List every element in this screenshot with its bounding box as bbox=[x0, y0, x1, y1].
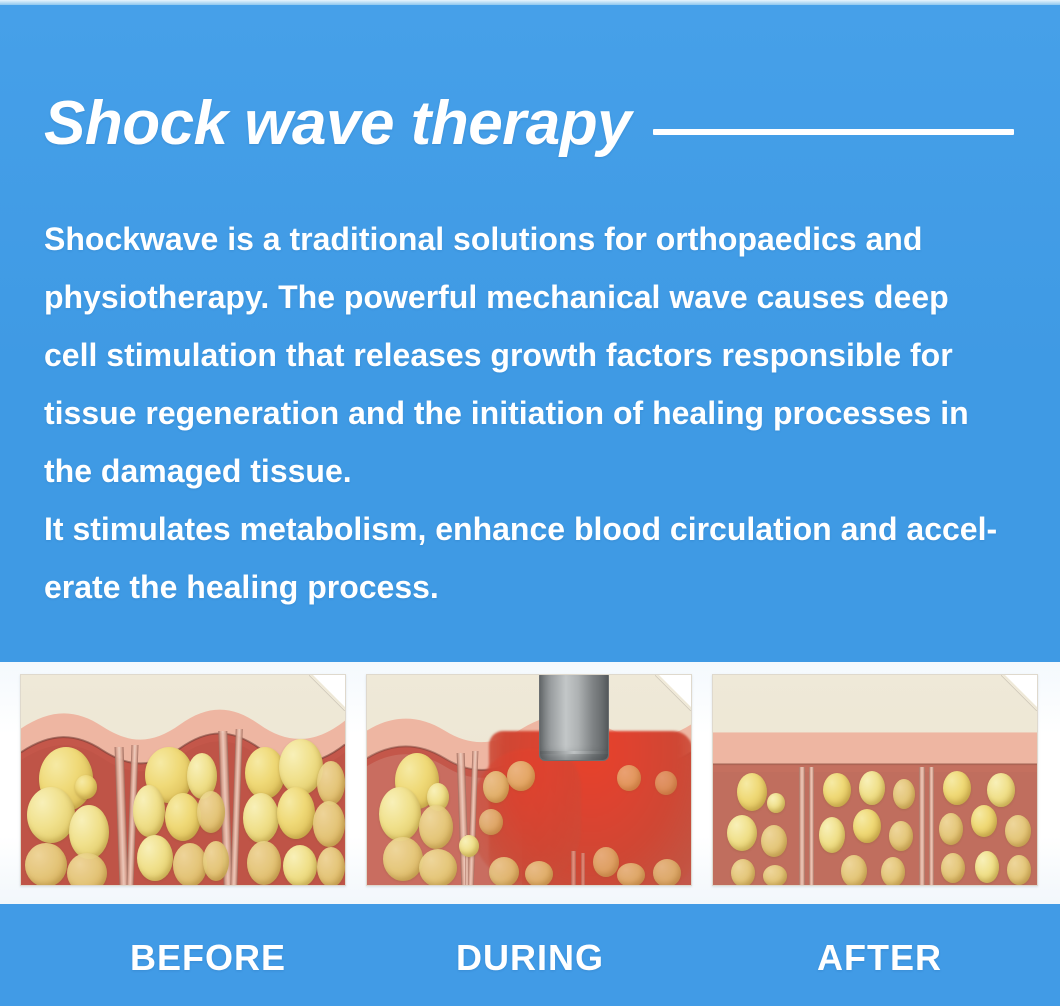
fat-cell bbox=[617, 863, 645, 886]
septum-strand bbox=[919, 767, 925, 886]
caption-cell-after: AFTER bbox=[707, 904, 1060, 1006]
fat-cell bbox=[459, 835, 479, 857]
fat-cell bbox=[489, 857, 519, 886]
paragraph-1-line: tissue regeneration and the initiation o… bbox=[44, 384, 1014, 442]
fat-cell bbox=[313, 801, 345, 847]
fat-cell bbox=[25, 843, 67, 886]
fat-cell bbox=[197, 791, 225, 833]
fat-cell bbox=[767, 793, 785, 813]
fat-cell bbox=[173, 843, 207, 886]
fat-cell bbox=[243, 793, 279, 843]
caption-during: DURING bbox=[456, 937, 604, 979]
fat-cell bbox=[727, 815, 757, 851]
fat-cell bbox=[419, 849, 457, 886]
fat-cell bbox=[859, 771, 885, 805]
fat-cell bbox=[507, 761, 535, 791]
fat-cell bbox=[479, 809, 503, 835]
septum-strand bbox=[581, 853, 585, 886]
hero-section: Shock wave therapy Shockwave is a tradit… bbox=[0, 5, 1060, 662]
fat-cell bbox=[987, 773, 1015, 807]
body-copy: Shockwave is a traditional solutions for… bbox=[44, 210, 1014, 616]
fat-cell bbox=[137, 835, 173, 881]
fat-cell bbox=[419, 805, 453, 849]
fat-cell bbox=[653, 859, 681, 886]
septum-strand bbox=[929, 767, 934, 886]
fat-cell bbox=[75, 775, 97, 799]
paragraph-2: It stimulates metabolism, enhance blood … bbox=[44, 500, 1014, 616]
fat-cell bbox=[277, 787, 315, 839]
septum-strand bbox=[799, 767, 805, 886]
shockwave-applicator-head bbox=[539, 674, 609, 761]
fat-cell bbox=[889, 821, 913, 851]
fat-cell bbox=[69, 805, 109, 859]
fat-cell bbox=[1007, 855, 1031, 885]
illustration-panels bbox=[20, 674, 1040, 886]
fat-cell bbox=[893, 779, 915, 809]
fat-cell bbox=[317, 847, 345, 886]
fat-cell bbox=[939, 813, 963, 845]
panel-before bbox=[20, 674, 346, 886]
fat-cell bbox=[483, 771, 509, 803]
fat-cell bbox=[203, 841, 229, 881]
fat-cell bbox=[881, 857, 905, 886]
fat-cell bbox=[853, 809, 881, 843]
title-row: Shock wave therapy bbox=[44, 88, 1014, 160]
paragraph-1-line: cell stimulation that releases growth fa… bbox=[44, 326, 1014, 384]
fat-cell bbox=[761, 825, 787, 857]
fat-cell bbox=[941, 853, 965, 883]
paragraph-2-line: erate the healing process. bbox=[44, 558, 1014, 616]
fat-cell bbox=[133, 785, 165, 837]
fat-cell bbox=[27, 787, 75, 843]
paragraph-1-line: physiotherapy. The powerful mechanical w… bbox=[44, 268, 1014, 326]
applicator-ring bbox=[540, 751, 608, 754]
paragraph-2-line: It stimulates metabolism, enhance blood … bbox=[44, 500, 1014, 558]
fat-cell bbox=[593, 847, 619, 877]
paragraph-1-line: the damaged tissue. bbox=[44, 442, 1014, 500]
panel-after bbox=[712, 674, 1038, 886]
fat-cell bbox=[165, 793, 201, 841]
fat-cell bbox=[823, 773, 851, 807]
fat-cell bbox=[379, 787, 421, 841]
caption-bar: BEFORE DURING AFTER bbox=[0, 904, 1060, 1006]
fat-cell bbox=[655, 771, 677, 795]
fat-cell bbox=[525, 861, 553, 886]
fat-cell bbox=[763, 865, 787, 886]
fat-cell bbox=[975, 851, 999, 883]
fat-cell bbox=[731, 859, 755, 886]
fat-cell bbox=[247, 841, 281, 885]
fat-cell bbox=[283, 845, 317, 886]
title-rule bbox=[653, 129, 1014, 135]
panel-during bbox=[366, 674, 692, 886]
fat-cell bbox=[383, 837, 423, 881]
paragraph-1: Shockwave is a traditional solutions for… bbox=[44, 210, 1014, 500]
caption-cell-before: BEFORE bbox=[0, 904, 353, 1006]
fat-cell bbox=[737, 773, 767, 811]
fat-cell bbox=[841, 855, 867, 886]
caption-before: BEFORE bbox=[130, 937, 286, 979]
caption-after: AFTER bbox=[817, 937, 942, 979]
infographic-page: Shock wave therapy Shockwave is a tradit… bbox=[0, 0, 1060, 1006]
caption-cell-during: DURING bbox=[353, 904, 706, 1006]
septum-strand bbox=[571, 851, 576, 886]
fat-cell bbox=[67, 853, 107, 886]
paragraph-1-line: Shockwave is a traditional solutions for… bbox=[44, 210, 1014, 268]
septum-strand bbox=[809, 767, 814, 886]
fat-cell bbox=[819, 817, 845, 853]
fat-cell bbox=[317, 761, 345, 805]
fat-cell bbox=[617, 765, 641, 791]
fat-cell bbox=[971, 805, 997, 837]
page-title: Shock wave therapy bbox=[44, 93, 631, 155]
fat-cell bbox=[943, 771, 971, 805]
fat-cell bbox=[1005, 815, 1031, 847]
